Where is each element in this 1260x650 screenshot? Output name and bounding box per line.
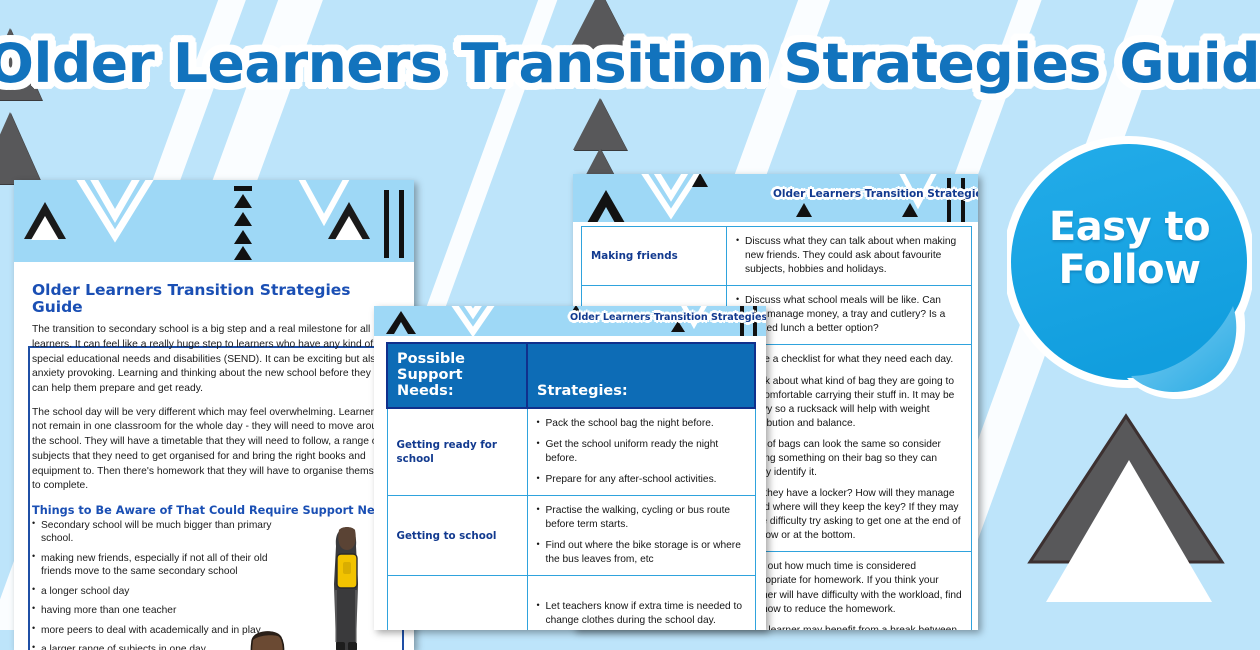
triangle-outline-icon [585, 188, 627, 222]
triangle-small-icon [901, 202, 919, 218]
list-item: making new friends, especially if not al… [32, 552, 296, 579]
sheet-banner [14, 180, 414, 262]
triangle-stack-icon [232, 186, 254, 260]
list-item: Practise the walking, cycling or bus rou… [537, 504, 746, 532]
sheet-banner: Older Learners Transition Strategies Gui… [573, 174, 978, 222]
header-line-2: Support Needs: [397, 367, 463, 399]
triangle-small-icon [691, 174, 709, 188]
doc-heading: Older Learners Transition Strategies Gui… [32, 282, 398, 316]
list-item: having more than one teacher [32, 604, 296, 617]
support-need-cell [387, 576, 527, 630]
list-item: Pack the school bag the night before. [537, 417, 746, 431]
list-item: Discuss what they can talk about when ma… [736, 235, 962, 277]
badge-line-2: Follow [1007, 249, 1252, 292]
triangle-white-icon [333, 214, 365, 242]
list-item: Lots of bags can look the same so consid… [736, 438, 962, 480]
table-header-row: Possible Support Needs: Strategies: [387, 343, 755, 408]
strategies-cell: Pack the school bag the night before. Ge… [527, 408, 755, 496]
illustration-student-backpack [324, 524, 370, 650]
easy-to-follow-badge[interactable]: Easy to Follow [1007, 132, 1252, 410]
document-front-table-sheet[interactable]: Older Learners Transition Strategies Gui… [374, 306, 766, 630]
list-item: Make a checklist for what they need each… [736, 353, 962, 367]
list-item: Get the school uniform ready the night b… [537, 438, 746, 466]
chevron-down-icon [72, 180, 158, 255]
badge-text: Easy to Follow [1007, 206, 1252, 292]
strategies-cell: Practise the walking, cycling or bus rou… [527, 496, 755, 576]
strategies-cell: Let teachers know if extra time is neede… [527, 576, 755, 630]
list-item: Prepare for any after-school activities. [537, 473, 746, 487]
sheet-banner: Older Learners Transition Strategies Gui… [374, 306, 766, 336]
sheet-banner-title: Older Learners Transition Strategies Gui… [570, 312, 766, 323]
list-item: Secondary school will be much bigger tha… [32, 519, 296, 546]
header-line-1: Possible [397, 351, 465, 367]
strategies-table: Possible Support Needs: Strategies: Gett… [386, 342, 756, 630]
table-row: Getting ready for school Pack the school… [387, 408, 755, 496]
sheet-body: Possible Support Needs: Strategies: Gett… [374, 336, 766, 630]
doc-subheading: Things to Be Aware of That Could Require… [32, 504, 398, 517]
list-item: a longer school day [32, 585, 296, 598]
support-need-cell: Getting to school [387, 496, 527, 576]
bg-white-triangle-icon [1044, 456, 1214, 606]
column-header-support-needs: Possible Support Needs: [387, 343, 527, 408]
list-item: Your learner may benefit from a break be… [736, 624, 962, 630]
bar-icon [945, 178, 971, 222]
chevron-down-icon [434, 306, 512, 336]
triangle-white-icon [29, 214, 61, 242]
triangle-small-icon [795, 202, 813, 218]
list-item: Think about what kind of bag they are go… [736, 375, 962, 431]
doc-paragraph: The transition to secondary school is a … [32, 323, 398, 397]
support-need-cell: Making friends [582, 227, 727, 286]
sheet-body: Older Learners Transition Strategies Gui… [14, 262, 414, 650]
bg-triangle-icon [573, 98, 627, 150]
badge-line-1: Easy to [1049, 204, 1210, 250]
bar-icon [382, 190, 408, 258]
page-title-wrap: Older Learners Transition Strategies Gui… [0, 32, 1260, 95]
doc-paragraph: The school day will be very different wh… [32, 406, 398, 494]
table-row: Getting to school Practise the walking, … [387, 496, 755, 576]
table-row: Making friends Discuss what they can tal… [582, 227, 972, 286]
list-item: Let teachers know if extra time is neede… [537, 600, 746, 628]
list-item: Find out how much time is considered app… [736, 560, 962, 616]
list-item: Discuss what school meals will be like. … [736, 294, 962, 336]
page-title: Older Learners Transition Strategies Gui… [0, 32, 1260, 95]
document-intro-sheet[interactable]: Older Learners Transition Strategies Gui… [14, 180, 414, 650]
list-item: Will they have a locker? How will they m… [736, 487, 962, 543]
support-need-cell: Getting ready for school [387, 408, 527, 496]
bg-triangle-icon [0, 112, 42, 184]
table-row: Let teachers know if extra time is neede… [387, 576, 755, 630]
strategies-cell: Discuss what they can talk about when ma… [727, 227, 972, 286]
sheet-banner-title: Older Learners Transition Strategies Gui… [773, 188, 978, 200]
list-item: Find out where the bike storage is or wh… [537, 539, 746, 567]
column-header-strategies: Strategies: [527, 343, 755, 408]
triangle-outline-icon [384, 310, 418, 336]
